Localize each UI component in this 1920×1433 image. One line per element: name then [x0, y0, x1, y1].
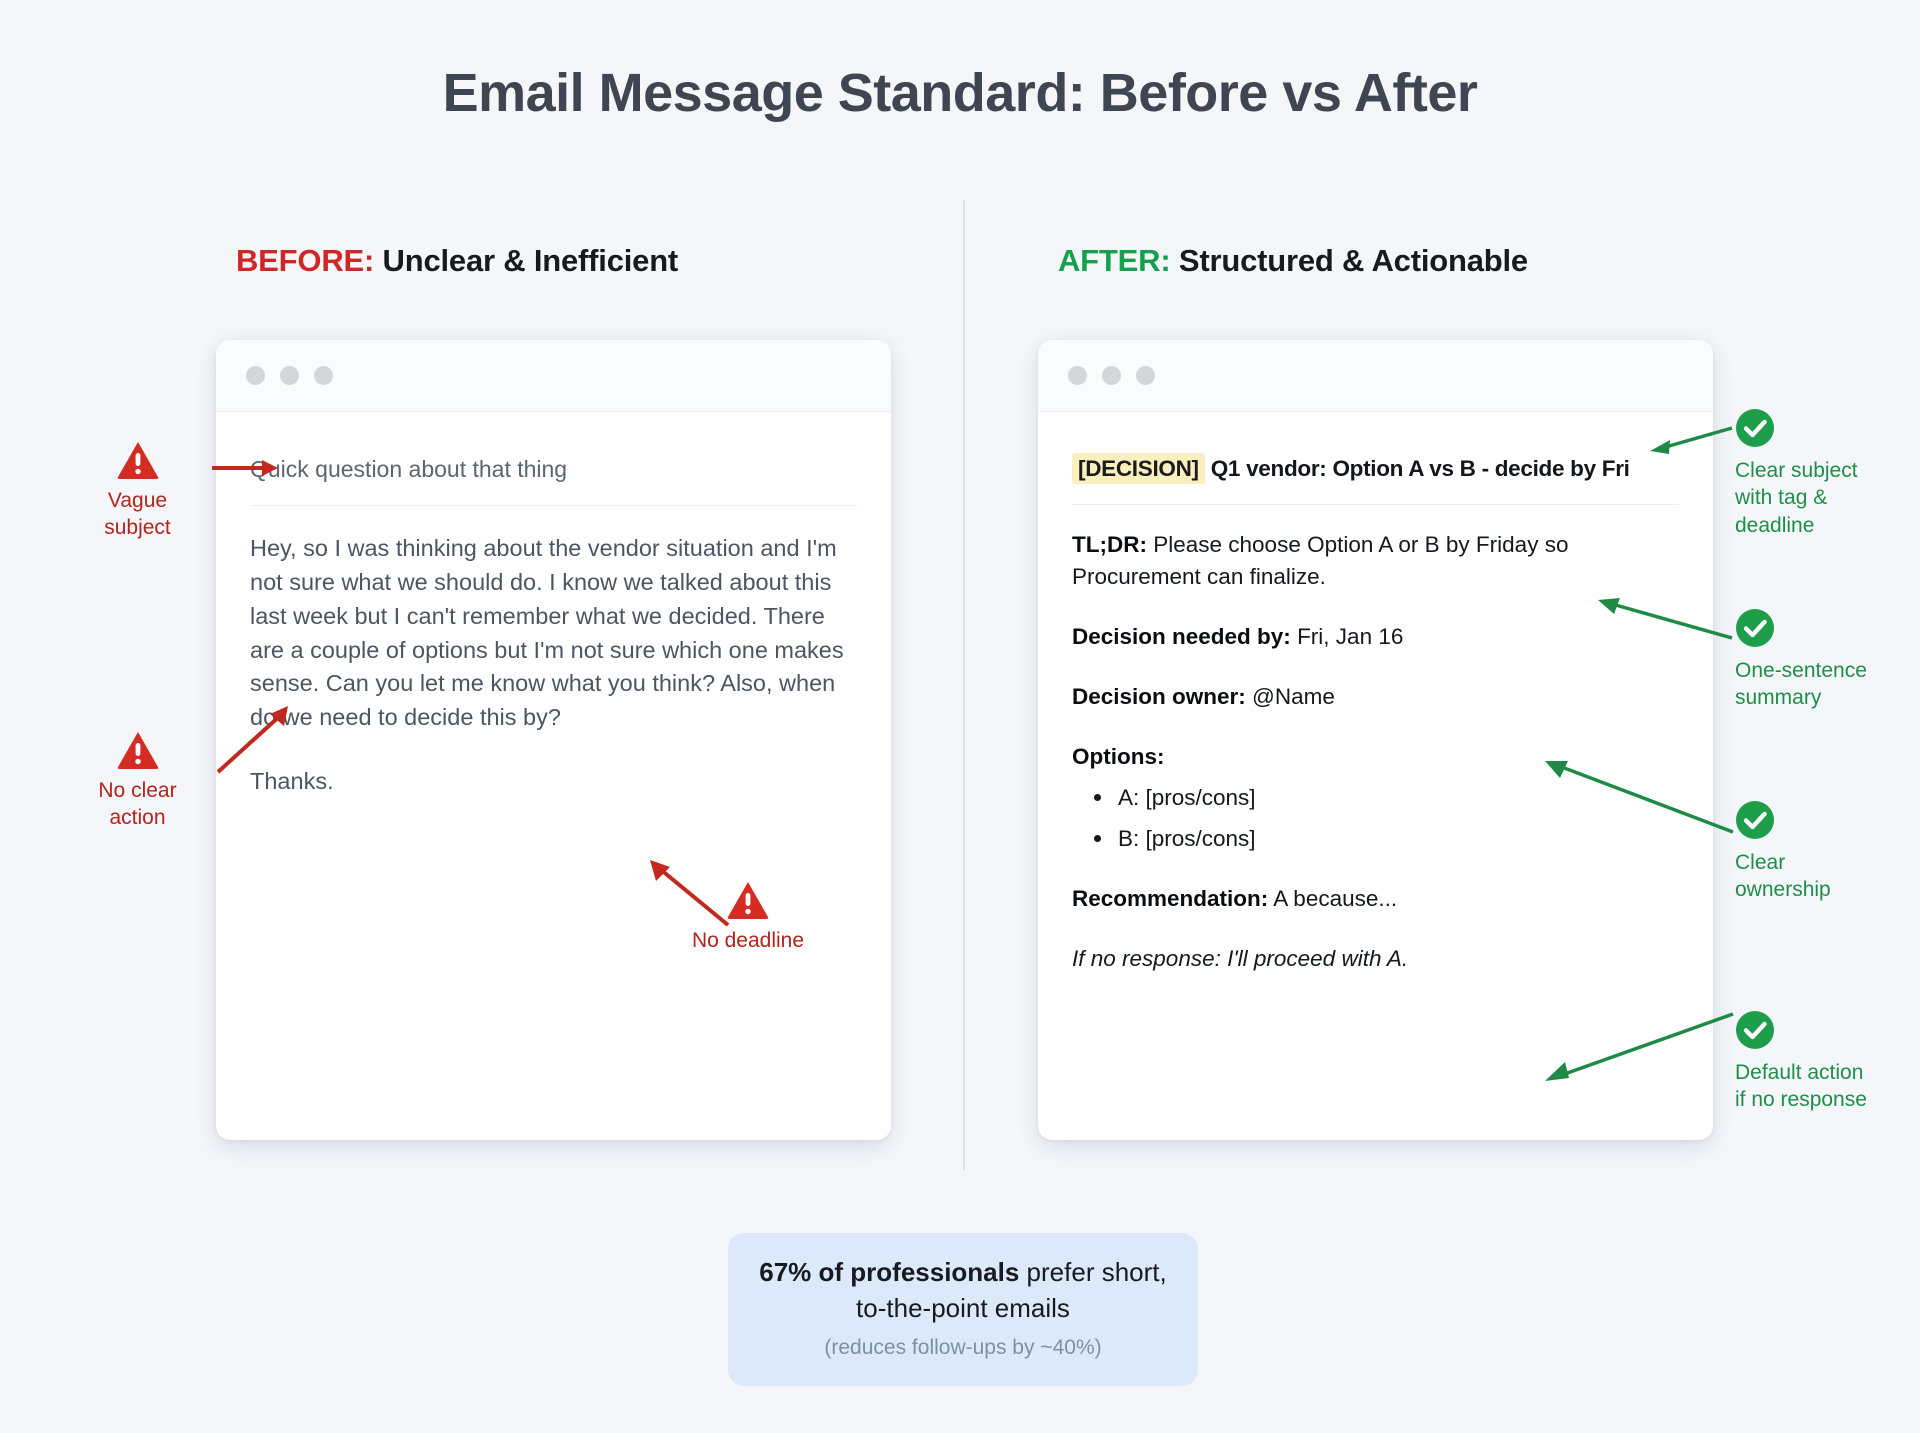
after-email-body: TL;DR: Please choose Option A or B by Fr… — [1072, 505, 1679, 974]
decision-tag-badge: [DECISION] — [1072, 453, 1205, 484]
annotation-label: Default actionif no response — [1735, 1059, 1920, 1114]
annotation-default-action: Default actionif no response — [1735, 1010, 1920, 1114]
recommendation-text: A because... — [1268, 886, 1397, 911]
check-circle-icon — [1735, 800, 1775, 840]
check-circle-icon — [1735, 1010, 1775, 1050]
decision-needed-label: Decision needed by: — [1072, 624, 1291, 649]
before-subject: Quick question about that thing — [250, 440, 857, 506]
recommendation-block: Recommendation: A because... — [1072, 883, 1679, 915]
annotation-label: One-sentencesummary — [1735, 657, 1915, 712]
annotation-label: Vaguesubject — [60, 488, 215, 542]
decision-owner-label: Decision owner: — [1072, 684, 1246, 709]
default-action-block: If no response: I'll proceed with A. — [1072, 943, 1679, 975]
annotation-label: No deadline — [658, 928, 838, 955]
infographic-page: Email Message Standard: Before vs After … — [0, 0, 1920, 1433]
check-circle-icon — [1735, 408, 1775, 448]
check-circle-icon — [1735, 608, 1775, 648]
window-titlebar — [1038, 340, 1713, 412]
annotation-clear-ownership: Clearownership — [1735, 800, 1915, 904]
after-keyword: AFTER: — [1058, 243, 1170, 278]
window-dot-minimize-icon[interactable] — [280, 366, 299, 385]
decision-needed-text: Fri, Jan 16 — [1291, 624, 1404, 649]
after-subject: [DECISION] Q1 vendor: Option A vs B - de… — [1072, 440, 1679, 505]
column-header-after: AFTER: Structured & Actionable — [1058, 243, 1528, 279]
options-list: A: [pros/cons] B: [pros/cons] — [1072, 782, 1679, 855]
decision-needed-block: Decision needed by: Fri, Jan 16 — [1072, 621, 1679, 653]
decision-owner-text: @Name — [1246, 684, 1335, 709]
window-dot-close-icon[interactable] — [1068, 366, 1087, 385]
page-title: Email Message Standard: Before vs After — [0, 62, 1920, 124]
annotation-clear-subject: Clear subjectwith tag &deadline — [1735, 408, 1905, 539]
window-dot-maximize-icon[interactable] — [1136, 366, 1155, 385]
column-divider — [963, 200, 965, 1170]
options-label: Options: — [1072, 744, 1164, 769]
annotation-no-clear-action: No clearaction — [50, 730, 225, 832]
before-subtitle: Unclear & Inefficient — [374, 243, 678, 278]
stat-sub-text: (reduces follow-ups by ~40%) — [758, 1336, 1168, 1360]
tldr-text: Please choose Option A or B by Friday so… — [1072, 532, 1568, 589]
tldr-label: TL;DR: — [1072, 532, 1147, 557]
before-paragraph-1: Hey, so I was thinking about the vendor … — [250, 532, 857, 735]
recommendation-label: Recommendation: — [1072, 886, 1268, 911]
before-window-body: Quick question about that thing Hey, so … — [216, 412, 891, 799]
annotation-label: No clearaction — [50, 778, 225, 832]
list-item: A: [pros/cons] — [1072, 782, 1679, 814]
after-subtitle: Structured & Actionable — [1170, 243, 1527, 278]
footer-stat-box: 67% of professionals prefer short, to-th… — [728, 1233, 1198, 1386]
window-dot-minimize-icon[interactable] — [1102, 366, 1121, 385]
before-email-window: Quick question about that thing Hey, so … — [216, 340, 891, 1140]
stat-percentage: 67% of professionals — [759, 1257, 1019, 1287]
options-block: Options: A: [pros/cons] B: [pros/cons] — [1072, 741, 1679, 855]
warning-triangle-icon — [726, 880, 770, 920]
before-email-body: Hey, so I was thinking about the vendor … — [250, 506, 857, 799]
warning-triangle-icon — [116, 440, 160, 480]
annotation-label: Clear subjectwith tag &deadline — [1735, 457, 1905, 539]
warning-triangle-icon — [116, 730, 160, 770]
after-subject-text: Q1 vendor: Option A vs B - decide by Fri — [1211, 456, 1630, 481]
after-window-body: [DECISION] Q1 vendor: Option A vs B - de… — [1038, 412, 1713, 975]
window-dot-maximize-icon[interactable] — [314, 366, 333, 385]
list-item: B: [pros/cons] — [1072, 823, 1679, 855]
annotation-no-deadline: No deadline — [658, 880, 838, 955]
tldr-block: TL;DR: Please choose Option A or B by Fr… — [1072, 529, 1679, 593]
after-email-window: [DECISION] Q1 vendor: Option A vs B - de… — [1038, 340, 1713, 1140]
before-keyword: BEFORE: — [236, 243, 374, 278]
column-header-before: BEFORE: Unclear & Inefficient — [236, 243, 678, 279]
annotation-one-sentence-summary: One-sentencesummary — [1735, 608, 1915, 712]
window-dot-close-icon[interactable] — [246, 366, 265, 385]
decision-owner-block: Decision owner: @Name — [1072, 681, 1679, 713]
stat-main-text: 67% of professionals prefer short, to-th… — [758, 1255, 1168, 1327]
before-paragraph-2: Thanks. — [250, 765, 857, 799]
annotation-label: Clearownership — [1735, 849, 1915, 904]
annotation-vague-subject: Vaguesubject — [60, 440, 215, 542]
window-titlebar — [216, 340, 891, 412]
